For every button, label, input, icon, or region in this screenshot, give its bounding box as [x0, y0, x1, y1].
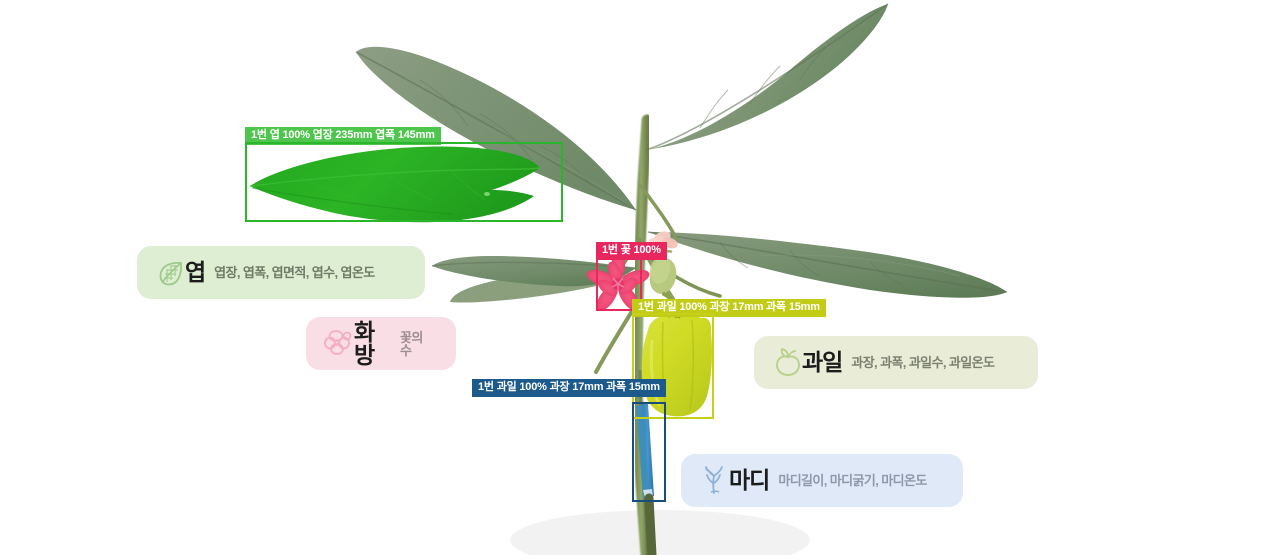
node-icon [699, 465, 731, 497]
legend-subtitle-fruit: 과장, 과폭, 과일수, 과일온도 [851, 356, 994, 369]
flower-icon [324, 328, 356, 360]
legend-subtitle-flower: 꽃의 수 [400, 331, 434, 357]
detection-box-node-1[interactable] [632, 402, 666, 502]
legend-title-leaf: 엽 [185, 261, 205, 284]
legend-card-flower[interactable]: 화방 꽃의 수 [306, 317, 456, 370]
detection-label-node-1: 1번 과일 100% 과장 17mm 과폭 15mm [472, 379, 666, 397]
legend-title-fruit: 과일 [802, 351, 842, 374]
legend-title-flower: 화방 [354, 321, 391, 367]
legend-subtitle-leaf: 엽장, 엽폭, 엽면적, 엽수, 엽온도 [214, 266, 374, 279]
detection-box-leaf-1[interactable] [245, 142, 563, 222]
legend-card-fruit[interactable]: 과일 과장, 과폭, 과일수, 과일온도 [754, 336, 1038, 389]
detection-canvas: 1번 엽 100% 엽장 235mm 엽폭 145mm 1번 꽃 100% 1번… [0, 0, 1280, 555]
legend-subtitle-node: 마디길이, 마디굵기, 마디온도 [778, 474, 926, 487]
leaf-icon [155, 257, 187, 289]
fruit-icon [772, 347, 804, 379]
legend-card-node[interactable]: 마디 마디길이, 마디굵기, 마디온도 [681, 454, 963, 507]
legend-title-node: 마디 [729, 469, 769, 492]
legend-card-leaf[interactable]: 엽 엽장, 엽폭, 엽면적, 엽수, 엽온도 [137, 246, 425, 299]
